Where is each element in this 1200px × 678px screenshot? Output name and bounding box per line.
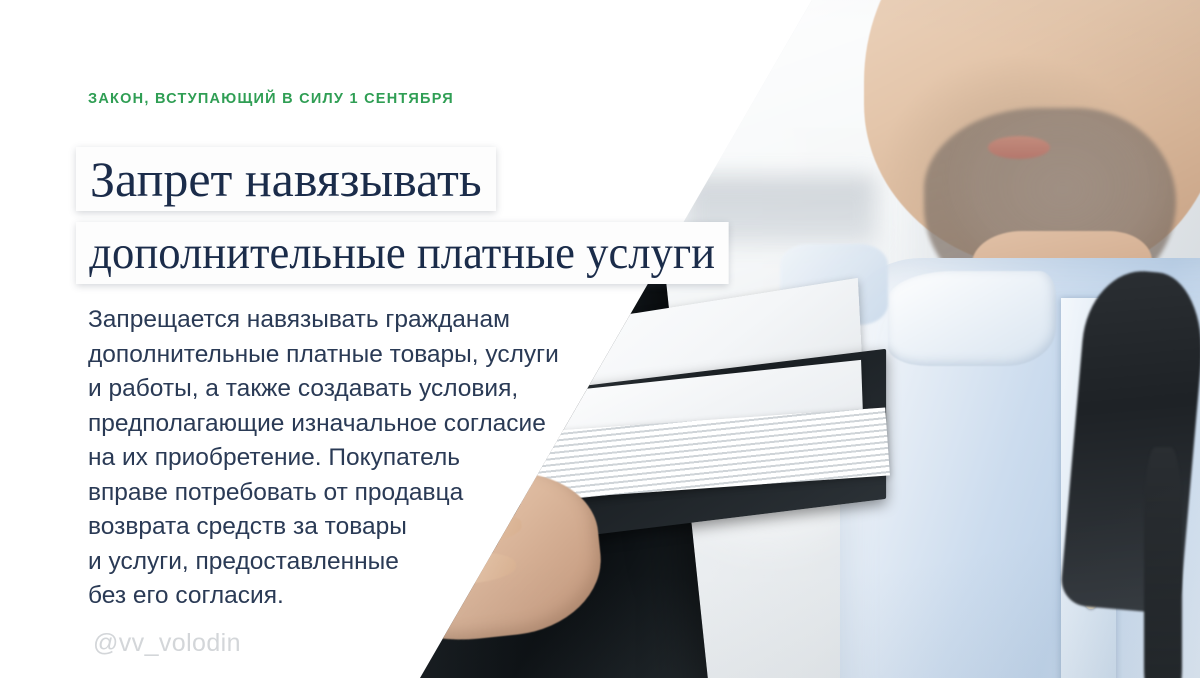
infographic-card: ЗАКОН, ВСТУПАЮЩИЙ В СИЛУ 1 СЕНТЯБРЯ Запр…: [0, 0, 1200, 678]
body-line: и услуги, предоставленные: [88, 545, 608, 580]
man-lips: [988, 136, 1050, 159]
body-line: дополнительные платные товары, услуги: [88, 338, 608, 373]
body-line: без его согласия.: [88, 579, 608, 614]
headline-line-2: дополнительные платные услуги: [76, 222, 728, 284]
body-line: вправе потребовать от продавца: [88, 476, 608, 511]
body-line: Запрещается навязывать гражданам: [88, 303, 608, 338]
body-line: и работы, а также создавать условия,: [88, 372, 608, 407]
body-line: возврата средств за товары: [88, 510, 608, 545]
dark-strap-tail: [1144, 447, 1182, 678]
eyebrow-label: ЗАКОН, ВСТУПАЮЩИЙ В СИЛУ 1 СЕНТЯБРЯ: [88, 91, 454, 107]
body-line: предполагающие изначальное согласие: [88, 407, 608, 442]
shirt-collar: [888, 271, 1056, 366]
body-paragraph: Запрещается навязывать гражданам дополни…: [88, 303, 608, 614]
body-line: на их приобретение. Покупатель: [88, 441, 608, 476]
social-handle: @vv_volodin: [93, 629, 241, 658]
headline-line-1: Запрет навязывать: [76, 147, 496, 211]
